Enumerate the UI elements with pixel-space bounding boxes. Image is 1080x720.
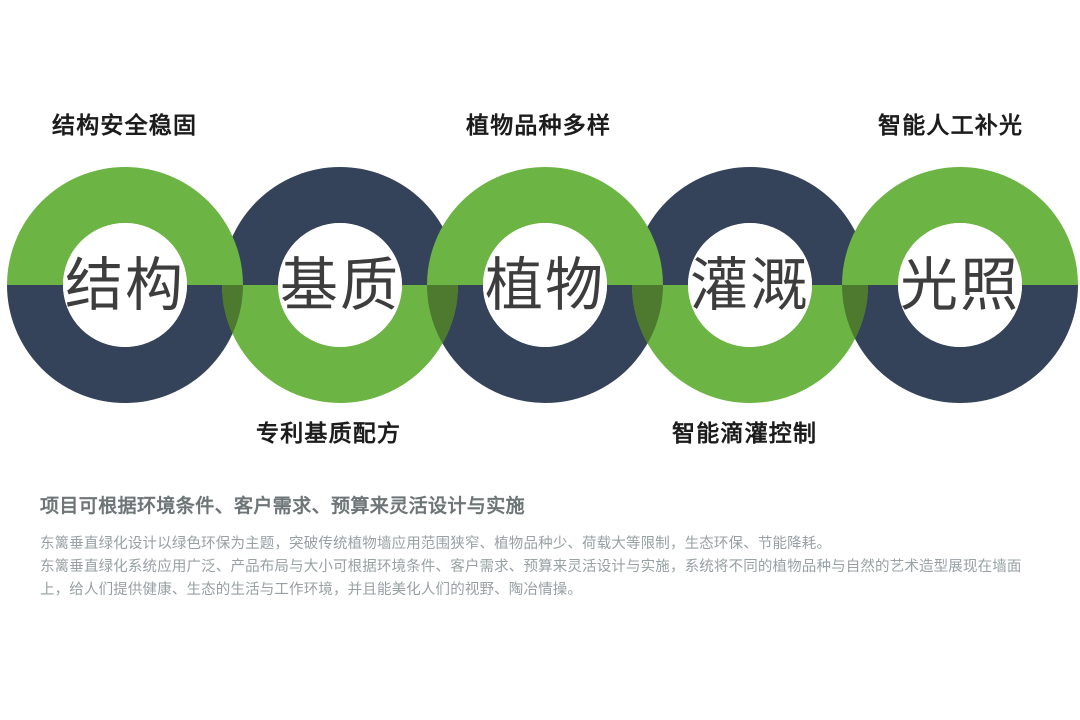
ring-diagram: 结构 基质 植物 灌溉 光照 结构安全稳固 专利基质配方 植物品种多样 智能滴灌… bbox=[0, 90, 1080, 470]
description-heading: 项目可根据环境条件、客户需求、预算来灵活设计与实施 bbox=[40, 495, 1050, 519]
description-block: 项目可根据环境条件、客户需求、预算来灵活设计与实施 东篱垂直绿化设计以绿色环保为… bbox=[40, 495, 1050, 602]
description-paragraph-2: 东篱垂直绿化系统应用广泛、产品布局与大小可根据环境条件、客户需求、预算来灵活设计… bbox=[40, 556, 1050, 602]
ring-word-irrigation: 灌溉 bbox=[665, 250, 835, 320]
ring-label-plants: 植物品种多样 bbox=[466, 115, 611, 138]
infographic-canvas: 结构 基质 植物 灌溉 光照 结构安全稳固 专利基质配方 植物品种多样 智能滴灌… bbox=[0, 0, 1080, 720]
ring-label-irrigation: 智能滴灌控制 bbox=[672, 423, 817, 446]
ring-label-substrate: 专利基质配方 bbox=[256, 423, 401, 446]
ring-word-light: 光照 bbox=[875, 250, 1045, 320]
description-body: 东篱垂直绿化设计以绿色环保为主题，突破传统植物墙应用范围狭窄、植物品种少、荷载大… bbox=[40, 533, 1050, 602]
ring-word-substrate: 基质 bbox=[255, 250, 425, 320]
description-paragraph-1: 东篱垂直绿化设计以绿色环保为主题，突破传统植物墙应用范围狭窄、植物品种少、荷载大… bbox=[40, 533, 1050, 556]
ring-label-light: 智能人工补光 bbox=[878, 115, 1023, 138]
ring-label-structure: 结构安全稳固 bbox=[52, 115, 197, 138]
ring-word-plants: 植物 bbox=[460, 250, 630, 320]
ring-word-structure: 结构 bbox=[40, 250, 210, 320]
